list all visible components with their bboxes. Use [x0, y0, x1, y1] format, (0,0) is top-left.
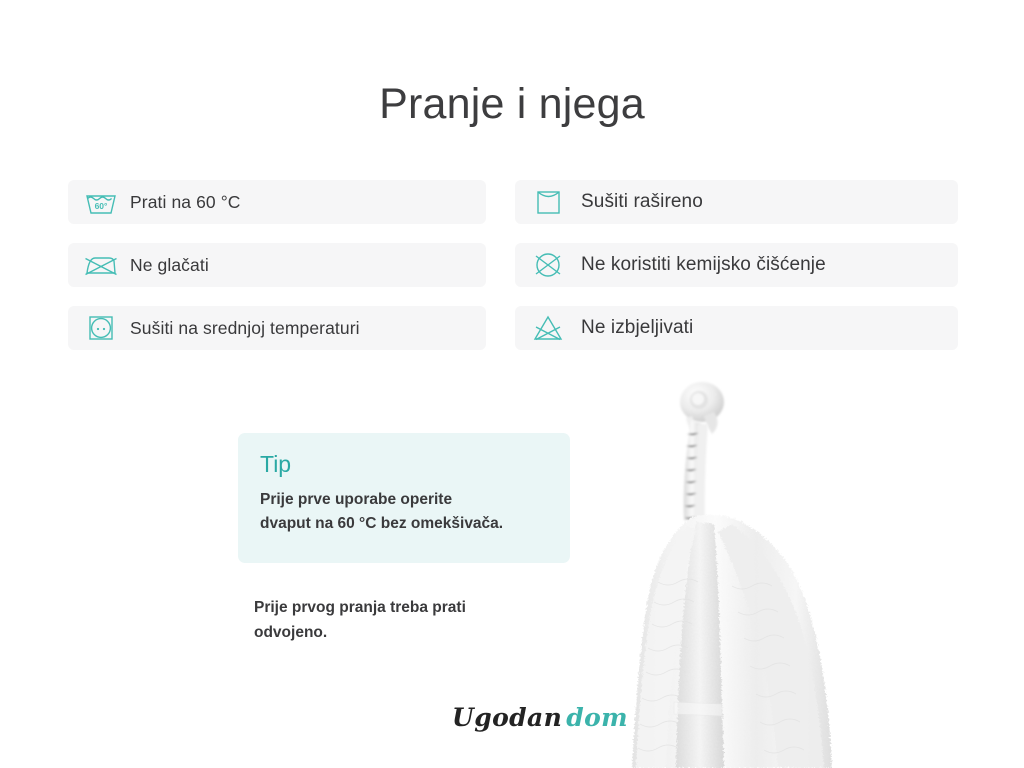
- do-not-bleach-icon: [529, 313, 567, 343]
- care-card-tumble-dry-medium: Sušiti na srednjoj temperaturi: [68, 306, 486, 350]
- towel-on-hook-illustration: [592, 372, 1024, 768]
- tip-heading: Tip: [260, 453, 548, 476]
- care-card-dry-flat: Sušiti rašireno: [515, 180, 958, 224]
- tip-body-line-1: Prije prve uporabe operite: [260, 491, 452, 508]
- care-card-do-not-iron: Ne glačati: [68, 243, 486, 287]
- tip-body: Prije prve uporabe operite dvaput na 60 …: [260, 488, 548, 536]
- tip-body-line-2: dvaput na 60 °C bez omekšivača.: [260, 515, 503, 532]
- care-label: Sušiti rašireno: [581, 191, 703, 213]
- tip-box: Tip Prije prve uporabe operite dvaput na…: [238, 433, 570, 563]
- tumble-dry-medium-icon: [82, 313, 120, 343]
- svg-text:60°: 60°: [95, 201, 108, 211]
- care-instructions-grid: 60° Prati na 60 °C Sušiti rašireno Ne gl…: [68, 180, 958, 350]
- note-line-1: Prije prvog pranja treba prati: [254, 599, 466, 616]
- towel-photo: [592, 372, 1024, 768]
- do-not-iron-icon: [82, 250, 120, 280]
- care-label: Ne glačati: [130, 255, 209, 276]
- care-label: Prati na 60 °C: [130, 192, 241, 213]
- page-title: Pranje i njega: [0, 81, 1024, 128]
- note-line-2: odvojeno.: [254, 624, 327, 641]
- do-not-dry-clean-icon: [529, 250, 567, 280]
- note-text: Prije prvog pranja treba prati odvojeno.: [254, 596, 554, 646]
- care-card-wash-60: 60° Prati na 60 °C: [68, 180, 486, 224]
- wash-tub-60-icon: 60°: [82, 187, 120, 217]
- care-card-do-not-dry-clean: Ne koristiti kemijsko čišćenje: [515, 243, 958, 287]
- care-label: Sušiti na srednjoj temperaturi: [130, 318, 360, 339]
- brand-logo-primary: Ugodan: [452, 703, 562, 732]
- care-label: Ne izbjeljivati: [581, 317, 693, 339]
- care-label: Ne koristiti kemijsko čišćenje: [581, 254, 826, 276]
- care-card-do-not-bleach: Ne izbjeljivati: [515, 306, 958, 350]
- dry-flat-icon: [529, 187, 567, 217]
